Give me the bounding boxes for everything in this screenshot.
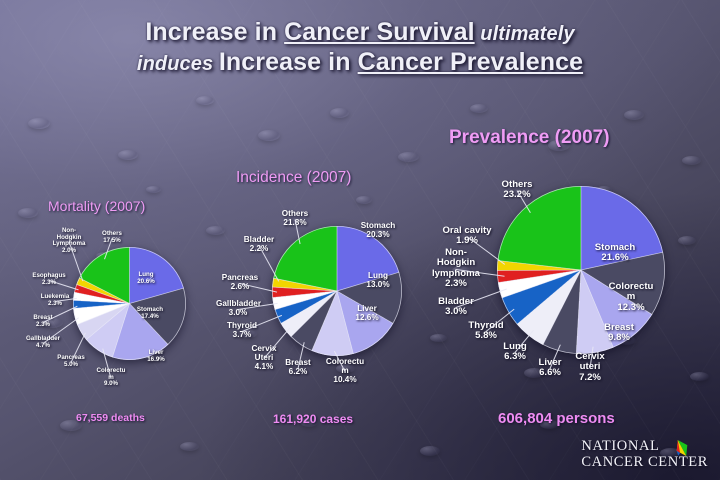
prevalence-total: 606,804 persons (498, 410, 615, 427)
slide-canvas: Increase in Cancer Survival ultimately i… (0, 0, 720, 480)
prevalence-label-stomach: Stomach 21.6% (589, 243, 641, 264)
prevalence-panel-title: Prevalence (2007) (449, 127, 610, 149)
prevalence-pie-chart (497, 186, 665, 354)
prevalence-label-colorectum: Colorectu m 12.3% (606, 282, 656, 313)
national-cancer-center-logo-mark (672, 438, 692, 458)
prevalence-label-breast: Breast 9.8% (599, 323, 639, 344)
panel-prevalence: Prevalence (2007) Stomach 21.6% Colorect… (0, 0, 720, 440)
